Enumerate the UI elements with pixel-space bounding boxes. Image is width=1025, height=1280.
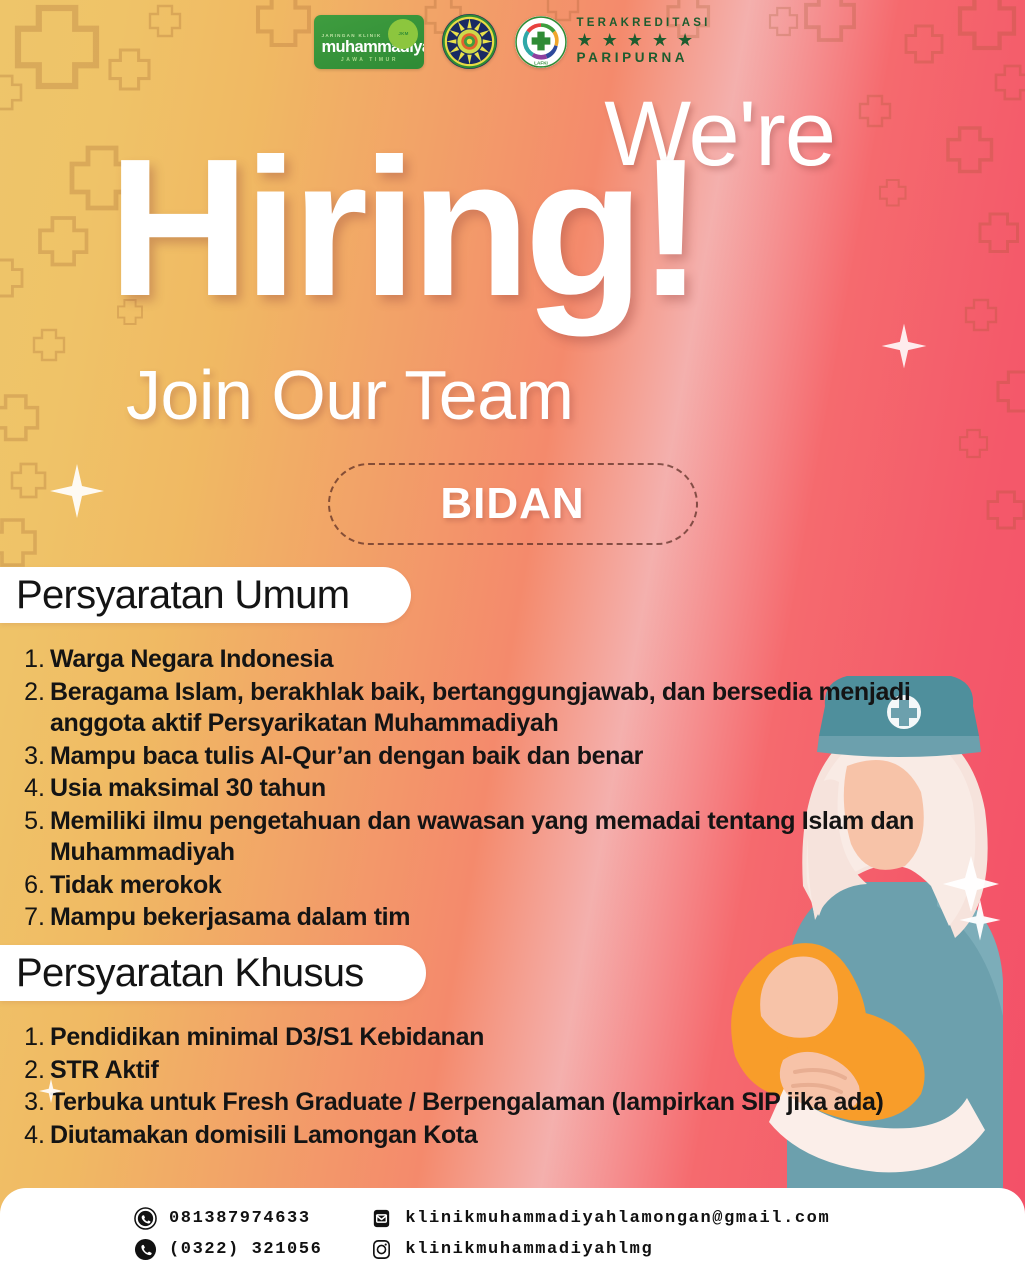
klinik-logo-blob-text: JKM [388,19,418,49]
footer-phone-column: 081387974633 (0322) 321056 [134,1207,322,1261]
requirement-item: 6.Tidak merokok [16,870,956,902]
requirement-number: 4. [16,773,50,805]
requirement-text: Diutamakan domisili Lamongan Kota [50,1120,477,1152]
requirement-item: 7.Mampu bekerjasama dalam tim [16,902,956,934]
requirement-item: 4.Usia maksimal 30 tahun [16,773,956,805]
contact-instagram-value: klinikmuhammadiyahlmg [405,1240,653,1259]
role-badge-label: BIDAN [440,479,584,529]
section-title-umum: Persyaratan Umum [16,575,349,615]
requirement-item: 5.Memiliki ilmu pengetahuan dan wawasan … [16,806,956,869]
requirement-number: 5. [16,806,50,838]
requirement-number: 1. [16,644,50,676]
requirement-text: Terbuka untuk Fresh Graduate / Berpengal… [50,1087,884,1119]
sparkle-icon-exclamation [880,322,928,370]
klinik-logo-blob: JKM [388,19,418,49]
requirement-item: 2.Beragama Islam, berakhlak baik, bertan… [16,677,956,740]
footer-contact-bar: 081387974633 (0322) 321056 [0,1188,1025,1280]
requirement-item: 1.Warga Negara Indonesia [16,644,956,676]
requirement-text: Warga Negara Indonesia [50,644,333,676]
requirement-number: 3. [16,741,50,773]
email-icon [370,1207,393,1230]
section-header-khusus: Persyaratan Khusus [0,945,426,1001]
role-badge: BIDAN [328,463,698,545]
svg-text:LAFKI: LAFKI [535,60,549,65]
requirement-text: Mampu baca tulis Al-Qur’an dengan baik d… [50,741,643,773]
requirement-number: 3. [16,1087,50,1119]
lafki-accreditation-icon: LAFKI [515,16,567,68]
accreditation-top-label: TERAKREDITASI [576,17,710,29]
hiring-poster: JKM JARINGAN KLINIK muhammadiyah JAWA TI… [0,0,1025,1280]
klinik-muhammadiyah-logo: JKM JARINGAN KLINIK muhammadiyah JAWA TI… [314,15,424,69]
contact-email-value: klinikmuhammadiyahlamongan@gmail.com [405,1209,830,1228]
requirement-number: 6. [16,870,50,902]
requirement-item: 1.Pendidikan minimal D3/S1 Kebidanan [16,1022,956,1054]
requirement-item: 3.Terbuka untuk Fresh Graduate / Berpeng… [16,1087,956,1119]
accreditation-logo: LAFKI TERAKREDITASI ★ ★ ★ ★ ★ PARIPURNA [515,16,710,68]
accreditation-stars: ★ ★ ★ ★ ★ [576,31,710,51]
requirement-number: 2. [16,1055,50,1087]
requirement-number: 1. [16,1022,50,1054]
requirement-item: 3.Mampu baca tulis Al-Qur’an dengan baik… [16,741,956,773]
requirement-text: Pendidikan minimal D3/S1 Kebidanan [50,1022,484,1054]
requirement-item: 2.STR Aktif [16,1055,956,1087]
contact-email[interactable]: klinikmuhammadiyahlamongan@gmail.com [370,1207,830,1230]
headline-subtitle: Join Our Team [126,360,573,430]
requirements-list-umum: 1.Warga Negara Indonesia2.Beragama Islam… [16,644,956,935]
requirement-text: Mampu bekerjasama dalam tim [50,902,410,934]
requirements-list-khusus: 1.Pendidikan minimal D3/S1 Kebidanan2.ST… [16,1022,956,1152]
requirement-text: Usia maksimal 30 tahun [50,773,326,805]
contact-instagram[interactable]: klinikmuhammadiyahlmg [370,1238,830,1261]
contact-whatsapp[interactable]: 081387974633 [134,1207,322,1230]
logo-bar: JKM JARINGAN KLINIK muhammadiyah JAWA TI… [0,14,1025,69]
contact-whatsapp-value: 081387974633 [169,1209,311,1228]
requirement-number: 2. [16,677,50,709]
muhammadiyah-sun-emblem-icon [442,14,497,69]
accreditation-bottom-label: PARIPURNA [576,51,710,65]
whatsapp-icon [134,1207,157,1230]
contact-phone[interactable]: (0322) 321056 [134,1238,322,1261]
requirement-number: 4. [16,1120,50,1152]
requirement-number: 7. [16,902,50,934]
headline-hiring: Hiring! [108,130,697,326]
phone-icon [134,1238,157,1261]
requirement-text: Beragama Islam, berakhlak baik, bertangg… [50,677,956,740]
instagram-icon [370,1238,393,1261]
requirement-text: STR Aktif [50,1055,158,1087]
sparkle-icon-left [48,462,106,520]
requirement-item: 4.Diutamakan domisili Lamongan Kota [16,1120,956,1152]
requirement-text: Memiliki ilmu pengetahuan dan wawasan ya… [50,806,956,869]
requirement-text: Tidak merokok [50,870,221,902]
section-header-umum: Persyaratan Umum [0,567,411,623]
section-title-khusus: Persyaratan Khusus [16,953,364,993]
klinik-logo-line3: JAWA TIMUR [321,57,417,63]
footer-online-column: klinikmuhammadiyahlamongan@gmail.com kli… [370,1207,830,1261]
contact-phone-value: (0322) 321056 [169,1240,322,1259]
